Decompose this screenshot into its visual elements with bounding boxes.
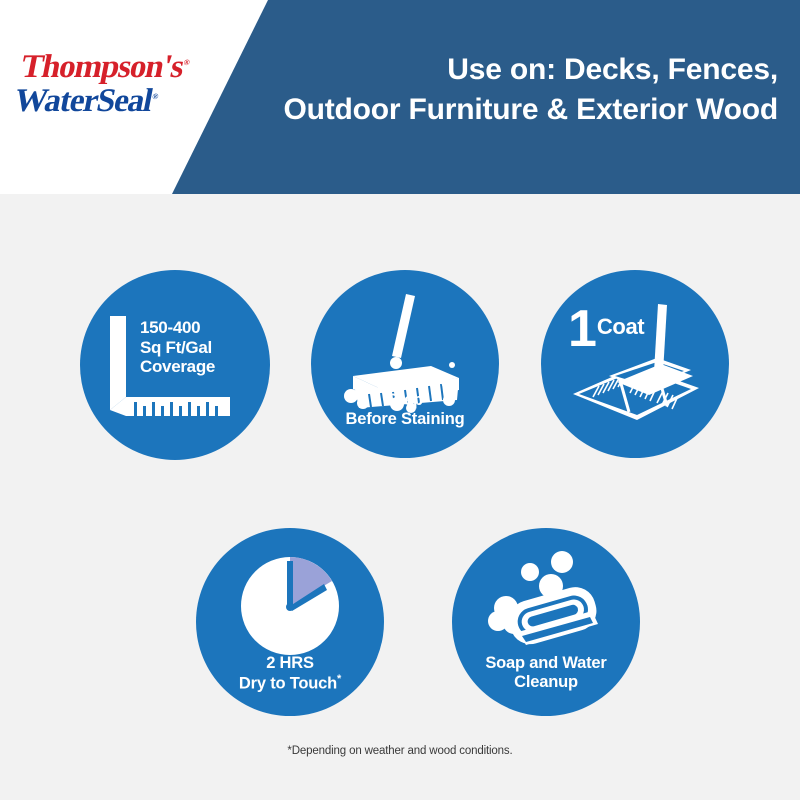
- prep-caption: Prep Before Staining: [311, 391, 499, 429]
- deck-applicator-pad-icon: [541, 270, 729, 458]
- page-title-line-1: Use on: Decks, Fences,: [230, 50, 778, 90]
- one-coat-word: Coat: [597, 316, 644, 338]
- one-coat-number: 1: [568, 308, 595, 352]
- feature-circle-coverage: 150-400 Sq Ft/Gal Coverage: [80, 270, 270, 460]
- logo-waterseal-text: WaterSeal®: [12, 85, 208, 117]
- dry-time-caption-text: Dry to Touch: [239, 674, 337, 692]
- logo-line-2: WaterSeal: [11, 83, 155, 119]
- feature-circle-dry-time: 2 HRS Dry to Touch*: [196, 528, 384, 716]
- page-title: Use on: Decks, Fences, Outdoor Furniture…: [230, 50, 778, 129]
- cleanup-caption-line-2: Cleanup: [452, 673, 640, 692]
- footnote: *Depending on weather and wood condition…: [0, 745, 800, 757]
- dry-time-asterisk: *: [337, 673, 341, 685]
- feature-circle-cleanup: Soap and Water Cleanup: [452, 528, 640, 716]
- prep-caption-line-2: Before Staining: [311, 410, 499, 429]
- coverage-line-3: Coverage: [140, 357, 215, 377]
- dry-time-caption-line-2: Dry to Touch*: [196, 673, 384, 693]
- page-header: Thompson's® WaterSeal® Use on: Decks, Fe…: [0, 0, 800, 194]
- coverage-line-1: 150-400: [140, 318, 215, 338]
- logo-line-1: Thompson's: [18, 49, 186, 85]
- feature-stage: 150-400 Sq Ft/Gal Coverage: [0, 194, 800, 800]
- logo-registered-mark-top: ®: [183, 58, 191, 67]
- coverage-inline-text: 150-400 Sq Ft/Gal Coverage: [140, 318, 215, 377]
- coverage-line-2: Sq Ft/Gal: [140, 338, 215, 358]
- dry-time-caption-line-1: 2 HRS: [196, 654, 384, 673]
- dry-time-caption: 2 HRS Dry to Touch*: [196, 654, 384, 693]
- logo-registered-mark-bottom: ®: [152, 92, 160, 101]
- feature-circle-prep: Prep Before Staining: [311, 270, 499, 458]
- brand-logo: Thompson's® WaterSeal®: [12, 52, 215, 117]
- cleanup-caption-line-1: Soap and Water: [452, 654, 640, 673]
- feature-circle-one-coat: 1 Coat: [541, 270, 729, 458]
- logo-thompsons-text: Thompson's®: [18, 52, 214, 84]
- scrub-brush-icon: [311, 270, 499, 458]
- one-coat-inline-text: 1 Coat: [568, 308, 644, 352]
- page-title-line-2: Outdoor Furniture & Exterior Wood: [230, 90, 778, 130]
- prep-caption-line-1: Prep: [311, 391, 499, 410]
- cleanup-caption: Soap and Water Cleanup: [452, 654, 640, 692]
